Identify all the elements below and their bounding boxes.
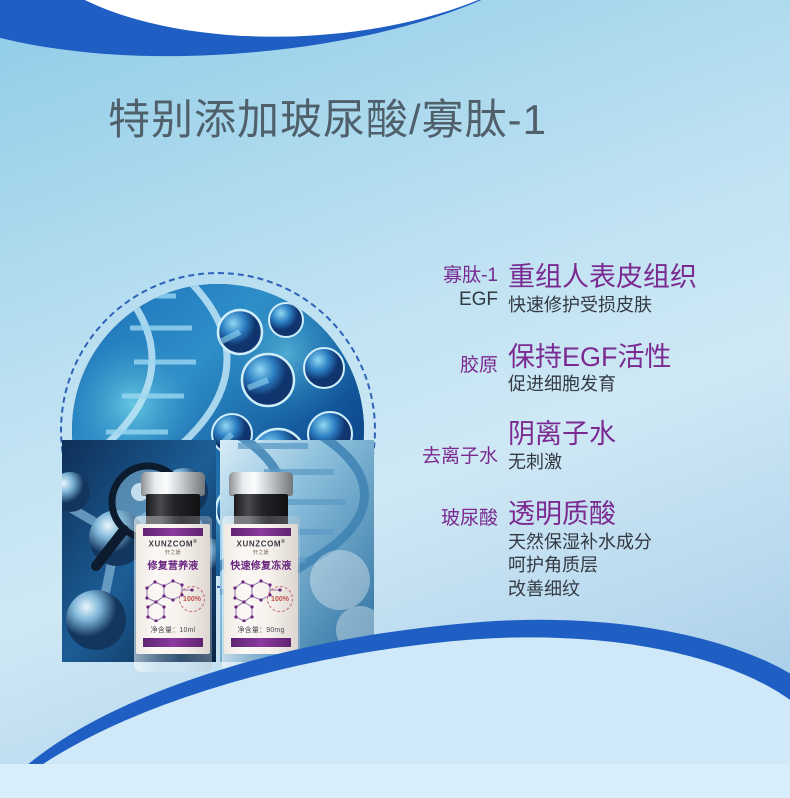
feature-title: 透明质酸 (508, 499, 790, 531)
feature-tag-sub: EGF (398, 288, 498, 313)
feature-desc-line: 呵护角质层 (508, 554, 790, 578)
feature-body: 透明质酸 天然保湿补水成分 呵护角质层 改善细纹 (508, 499, 790, 602)
vial-label-left: XUNZCOM® 轩之媛 修复营养液 (136, 524, 210, 654)
ingredient-feature-list: 寡肽-1 EGF 重组人表皮组织 快速修护受损皮肤 胶原 保持EGF活性 促进细… (398, 262, 790, 616)
label-top-bar (143, 528, 203, 536)
feature-title: 阴离子水 (508, 419, 790, 451)
feature-title: 保持EGF活性 (508, 342, 790, 374)
feature-tag-main: 去离子水 (398, 445, 498, 469)
feature-item-oligopeptide: 寡肽-1 EGF 重组人表皮组织 快速修护受损皮肤 (398, 262, 790, 318)
feature-tag: 胶原 (398, 342, 508, 378)
feature-tag-main: 胶原 (398, 354, 498, 378)
feature-desc-line: 促进细胞发育 (508, 373, 790, 397)
net-weight-label: 净含量：10ml (136, 625, 210, 635)
label-top-bar (231, 528, 291, 536)
brand-name-cn: 轩之媛 (136, 549, 210, 556)
feature-tag-main: 玻尿酸 (398, 507, 498, 531)
media-collage: XUNZCOM® 轩之媛 修复营养液 (60, 272, 378, 672)
feature-desc-line: 快速修护受损皮肤 (508, 294, 790, 318)
net-weight-label: 净含量：90mg (224, 625, 298, 635)
vial-cap-icon (141, 472, 205, 496)
feature-item-hyaluronic-acid: 玻尿酸 透明质酸 天然保湿补水成分 呵护角质层 改善细纹 (398, 499, 790, 602)
brand-name-cn: 轩之媛 (224, 549, 298, 556)
label-bottom-bar (231, 638, 291, 647)
product-vial-left[interactable]: XUNZCOM® 轩之媛 修复营养液 (132, 472, 214, 672)
vial-label-right: XUNZCOM® 轩之媛 快速修复冻液 (224, 524, 298, 654)
bottom-base-strip (0, 764, 790, 798)
feature-item-collagen: 胶原 保持EGF活性 促进细胞发育 (398, 342, 790, 398)
feature-tag: 去离子水 (398, 419, 508, 469)
feature-body: 重组人表皮组织 快速修护受损皮肤 (508, 262, 790, 318)
feature-item-deionized-water: 去离子水 阴离子水 无刺激 (398, 419, 790, 475)
feature-body: 阴离子水 无刺激 (508, 419, 790, 475)
feature-desc-line: 天然保湿补水成分 (508, 531, 790, 555)
feature-tag-main: 寡肽-1 (398, 264, 498, 288)
label-bottom-bar (143, 638, 203, 647)
product-poster: 特别添加玻尿酸/寡肽-1 (0, 0, 790, 798)
feature-body: 保持EGF活性 促进细胞发育 (508, 342, 790, 398)
feature-desc-line: 改善细纹 (508, 578, 790, 602)
page-title: 特别添加玻尿酸/寡肽-1 (108, 96, 547, 144)
product-name: 快速修复冻液 (224, 557, 298, 572)
quality-seal-badge: 100% (267, 586, 293, 612)
feature-desc-line: 无刺激 (508, 451, 790, 475)
product-bottles: XUNZCOM® 轩之媛 修复营养液 (130, 472, 320, 677)
product-name: 修复营养液 (136, 557, 210, 572)
brand-name: XUNZCOM® (136, 539, 210, 549)
quality-seal-badge: 100% (179, 586, 205, 612)
feature-tag: 寡肽-1 EGF (398, 262, 508, 312)
brand-name: XUNZCOM® (224, 539, 298, 549)
feature-tag: 玻尿酸 (398, 499, 508, 531)
feature-title: 重组人表皮组织 (508, 262, 790, 294)
product-vial-right[interactable]: XUNZCOM® 轩之媛 快速修复冻液 (220, 472, 302, 672)
vial-cap-icon (229, 472, 293, 496)
